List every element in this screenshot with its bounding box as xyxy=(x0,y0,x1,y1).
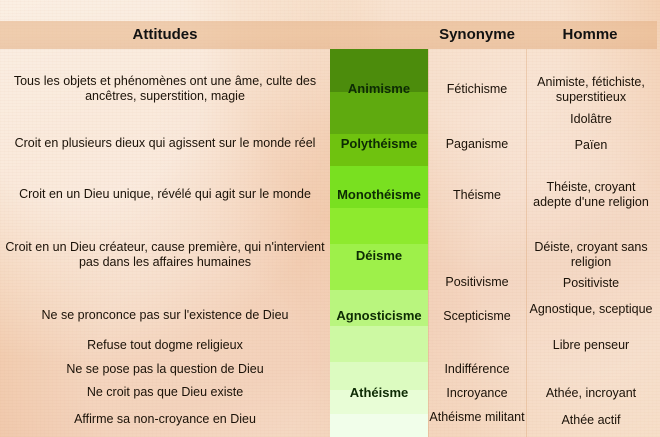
attitude-cell: Croit en un Dieu créateur, cause premièr… xyxy=(0,240,330,270)
homme-cell: Déiste, croyant sans religion xyxy=(526,240,656,270)
attitude-cell: Tous les objets et phénomènes ont une âm… xyxy=(10,74,320,104)
column-header-homme: Homme xyxy=(526,22,654,48)
attitude-cell: Croit en un Dieu unique, révélé qui agit… xyxy=(0,187,330,202)
column-header-attitudes: Attitudes xyxy=(0,22,330,48)
synonyme-cell: Positivisme xyxy=(428,275,526,290)
synonyme-cell: Scepticisme xyxy=(428,309,526,324)
homme-cell: Païen xyxy=(526,138,656,153)
attitude-cell: Croit en plusieurs dieux qui agissent su… xyxy=(0,136,330,151)
gradient-band-4 xyxy=(330,208,428,244)
attitude-cell: Affirme sa non-croyance en Dieu xyxy=(0,412,330,427)
attitude-cell: Refuse tout dogme religieux xyxy=(0,338,330,353)
synonyme-cell: Athéisme militant xyxy=(428,410,526,425)
gradient-band-10 xyxy=(330,414,428,437)
attitude-cell: Ne se pronconce pas sur l'existence de D… xyxy=(0,308,330,323)
belief-label: Monothéisme xyxy=(330,187,428,202)
homme-cell: Théiste, croyant adepte d'une religion xyxy=(526,180,656,210)
homme-cell: Libre penseur xyxy=(526,338,656,353)
synonyme-cell: Indifférence xyxy=(428,362,526,377)
homme-cell: Agnostique, sceptique xyxy=(526,302,656,317)
belief-label: Déisme xyxy=(330,248,428,263)
attitude-cell: Ne se pose pas la question de Dieu xyxy=(0,362,330,377)
synonyme-cell: Théisme xyxy=(428,188,526,203)
belief-gradient-column xyxy=(330,49,428,437)
belief-label: Polythéisme xyxy=(330,136,428,151)
belief-label: Athéisme xyxy=(330,385,428,400)
homme-cell: Animiste, fétichiste, superstitieux xyxy=(526,75,656,105)
synonyme-cell: Fétichisme xyxy=(428,82,526,97)
homme-cell: Idolâtre xyxy=(526,112,656,127)
belief-label: Animisme xyxy=(330,81,428,96)
homme-cell: Positiviste xyxy=(526,276,656,291)
gradient-band-1 xyxy=(330,92,428,134)
column-divider-synonyme xyxy=(428,49,429,437)
homme-cell: Athée actif xyxy=(526,413,656,428)
homme-cell: Athée, incroyant xyxy=(526,386,656,401)
attitude-cell: Ne croit pas que Dieu existe xyxy=(0,385,330,400)
synonyme-cell: Incroyance xyxy=(428,386,526,401)
gradient-band-7 xyxy=(330,326,428,362)
synonyme-cell: Paganisme xyxy=(428,137,526,152)
infographic-table: Attitudes Synonyme Homme AnimismePolythé… xyxy=(0,0,660,437)
column-header-synonyme: Synonyme xyxy=(428,22,526,48)
belief-label: Agnosticisme xyxy=(330,308,428,323)
